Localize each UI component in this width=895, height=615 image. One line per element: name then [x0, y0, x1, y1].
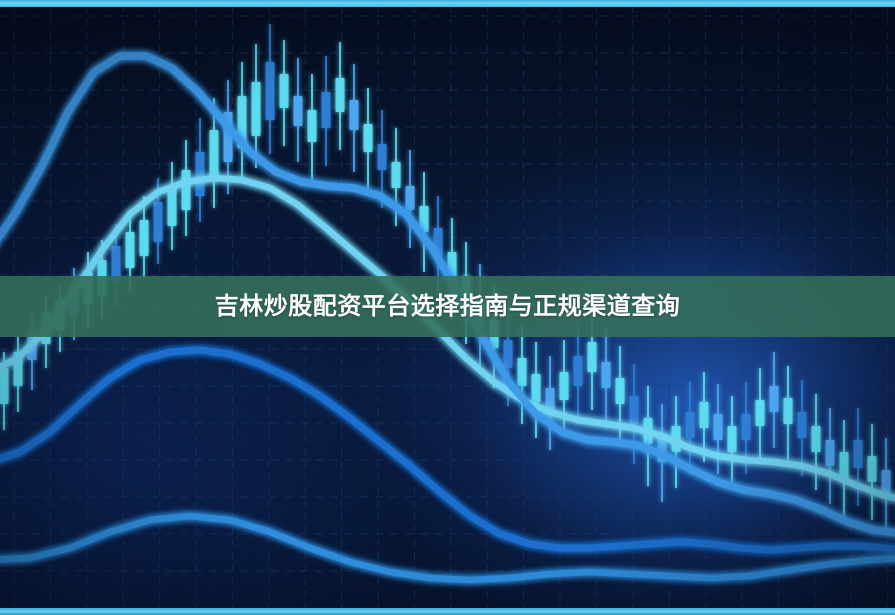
top-accent-bar [0, 0, 895, 7]
stock-chart-banner: 吉林炒股配资平台选择指南与正规渠道查询 [0, 0, 895, 615]
page-title: 吉林炒股配资平台选择指南与正规渠道查询 [215, 295, 681, 319]
title-band: 吉林炒股配资平台选择指南与正规渠道查询 [0, 276, 895, 337]
bottom-accent-bar [0, 608, 895, 615]
